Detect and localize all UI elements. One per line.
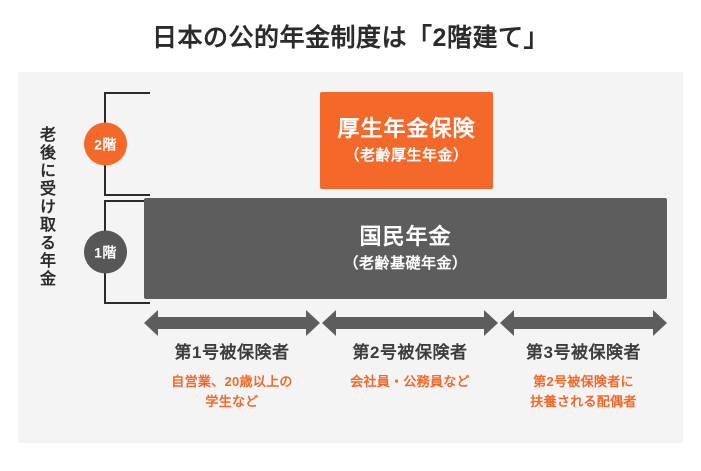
category-description: 第2号被保険者に 扶養される配偶者	[500, 372, 667, 411]
category-title: 第1号被保険者	[144, 342, 320, 364]
arrows-row	[144, 310, 667, 336]
tier-box-national-pension: 国民年金 （老齢基礎年金）	[144, 198, 667, 299]
category-description-line-1: 会社員・公務員など	[322, 372, 498, 392]
bracket-tick-bottom	[104, 194, 150, 196]
double-arrow-icon-category-3	[500, 310, 667, 336]
tier-box-subtitle: （老齢基礎年金）	[343, 253, 467, 274]
category-description-line-1: 自営業、20歳以上の	[144, 372, 320, 392]
tier-box-subtitle: （老齢厚生年金）	[344, 145, 468, 166]
double-arrow-icon-category-1	[144, 310, 320, 336]
category-description: 会社員・公務員など	[322, 372, 498, 392]
arrow-shaft	[335, 317, 485, 329]
category-insured-type-2: 第2号被保険者 会社員・公務員など	[322, 342, 498, 392]
category-description-line-1: 第2号被保険者に	[500, 372, 667, 392]
category-title: 第3号被保険者	[500, 342, 667, 364]
arrow-head-right-icon	[484, 310, 498, 336]
category-title: 第2号被保険者	[322, 342, 498, 364]
bracket-floor-2: 2階	[104, 92, 150, 196]
tier-box-title: 厚生年金保険	[337, 115, 475, 143]
category-insured-type-1: 第1号被保険者 自営業、20歳以上の 学生など	[144, 342, 320, 411]
diagram-panel: 老後に受け取る年金 2階 1階 厚生年金保険 （老齢厚生年金） 国民年金 （老齢…	[18, 72, 683, 443]
floor-badge-1: 1階	[84, 231, 127, 274]
arrow-shaft	[513, 317, 654, 329]
category-description: 自営業、20歳以上の 学生など	[144, 372, 320, 411]
arrow-head-left-icon	[144, 310, 158, 336]
categories-row: 第1号被保険者 自営業、20歳以上の 学生など 第2号被保険者 会社員・公務員な…	[144, 342, 667, 432]
axis-label-pension-received-after-retirement: 老後に受け取る年金	[30, 92, 60, 322]
arrow-head-left-icon	[322, 310, 336, 336]
category-insured-type-3: 第3号被保険者 第2号被保険者に 扶養される配偶者	[500, 342, 667, 411]
bracket-tick-top	[104, 92, 150, 94]
page-title: 日本の公的年金制度は「2階建て」	[0, 18, 701, 54]
arrow-shaft	[157, 317, 307, 329]
arrow-head-right-icon	[653, 310, 667, 336]
arrow-head-right-icon	[306, 310, 320, 336]
double-arrow-icon-category-2	[322, 310, 498, 336]
tier-box-title: 国民年金	[359, 223, 451, 251]
bracket-tick-bottom	[104, 302, 150, 304]
tier-box-employees-pension: 厚生年金保険 （老齢厚生年金）	[320, 92, 493, 189]
arrow-head-left-icon	[500, 310, 514, 336]
category-description-line-2: 扶養される配偶者	[500, 392, 667, 412]
floor-badge-2: 2階	[84, 123, 127, 166]
category-description-line-2: 学生など	[144, 392, 320, 412]
